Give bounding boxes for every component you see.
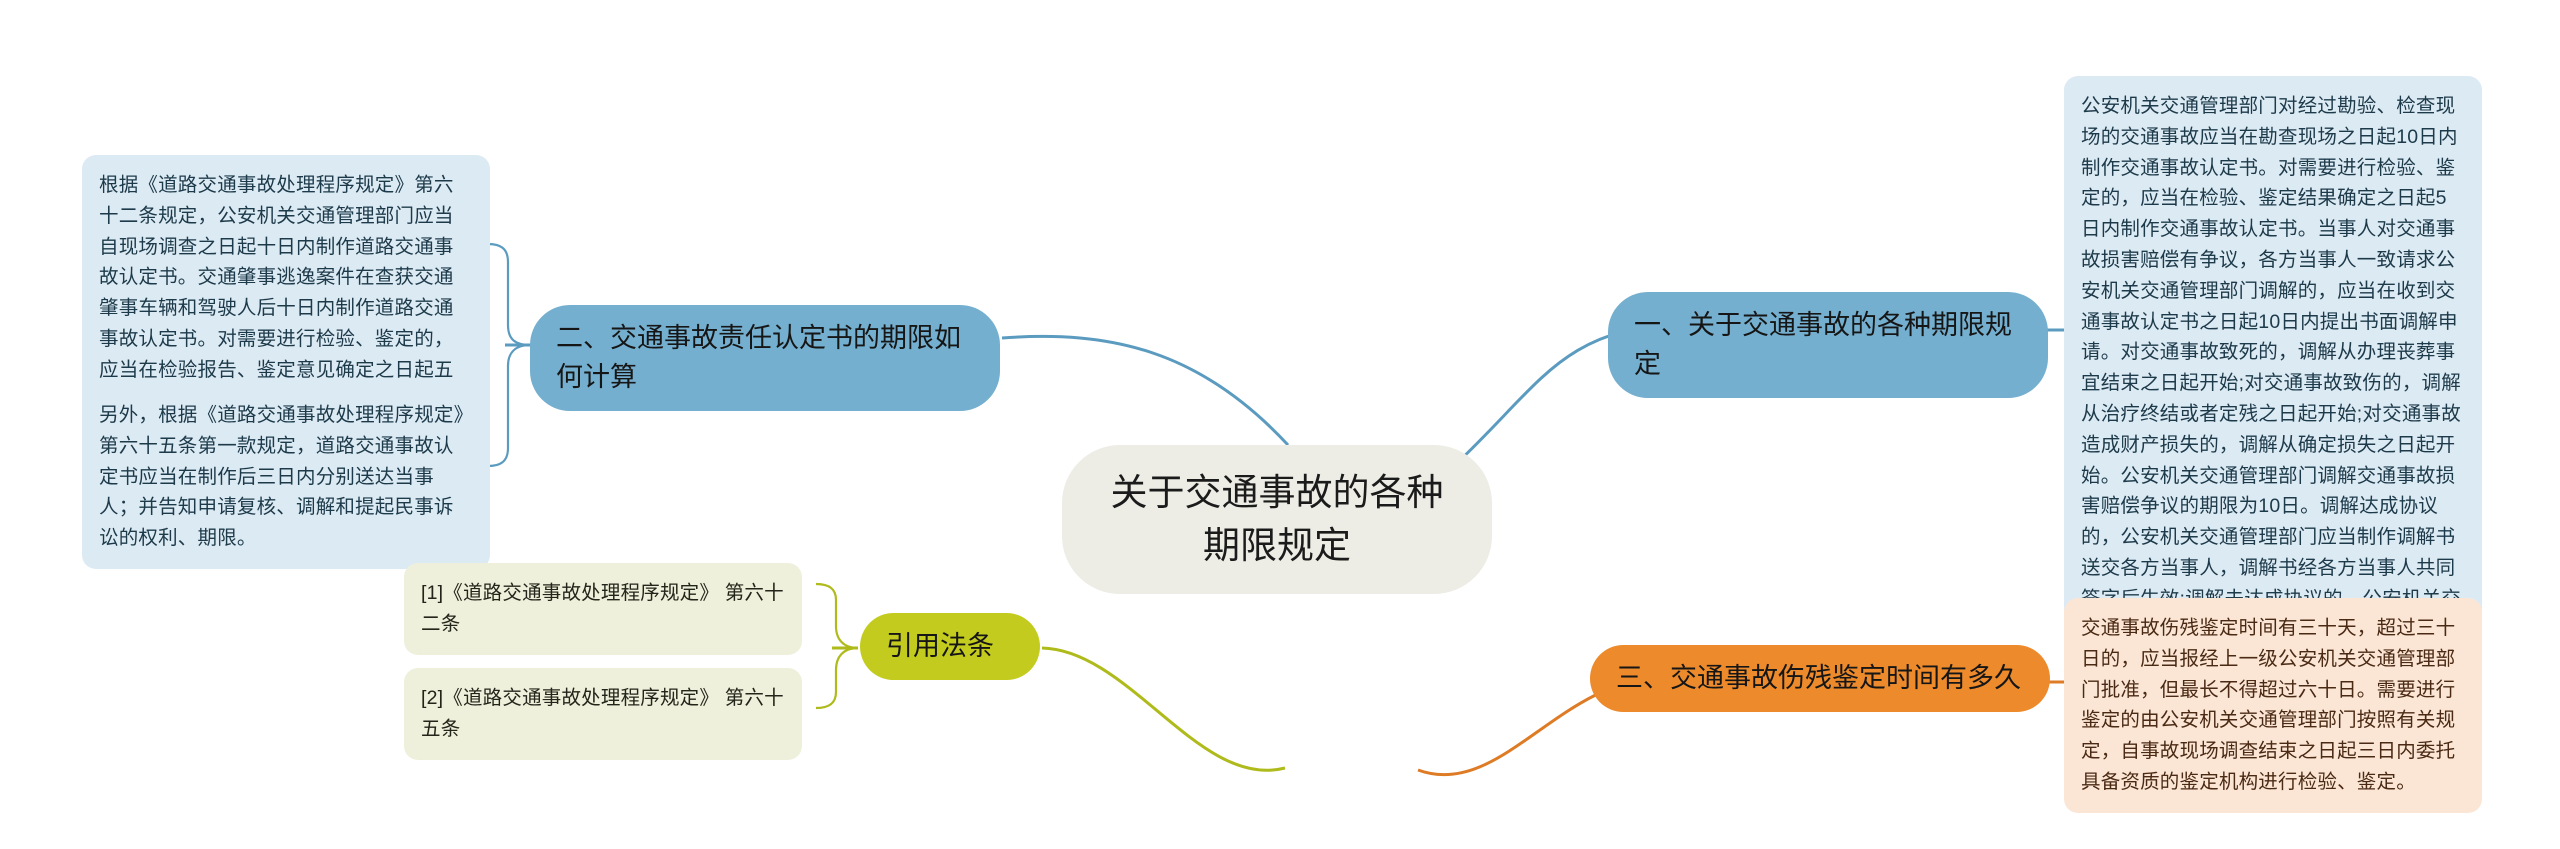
citation-card-2[interactable]: [2]《道路交通事故处理程序规定》 第六十五条 xyxy=(404,668,802,760)
center-topic-node[interactable]: 关于交通事故的各种期限规定 xyxy=(1062,445,1492,594)
branch-node-two-label: 二、交通事故责任认定书的期限如何计算 xyxy=(556,319,974,397)
connector-branch-two-to-cards xyxy=(488,244,530,345)
detail-card-branch-two-b-text: 另外，根据《道路交通事故处理程序规定》第六十五条第一款规定，道路交通事故认定书应… xyxy=(99,400,473,554)
branch-node-two[interactable]: 二、交通事故责任认定书的期限如何计算 xyxy=(530,305,1000,411)
center-topic-label: 关于交通事故的各种期限规定 xyxy=(1108,467,1446,572)
connector-citations-to-card-1 xyxy=(816,584,858,648)
citation-card-2-text: [2]《道路交通事故处理程序规定》 第六十五条 xyxy=(421,683,785,745)
detail-card-branch-two-b[interactable]: 另外，根据《道路交通事故处理程序规定》第六十五条第一款规定，道路交通事故认定书应… xyxy=(82,385,490,569)
detail-card-branch-three[interactable]: 交通事故伤残鉴定时间有三十天，超过三十日的，应当报经上一级公安机关交通管理部门批… xyxy=(2064,598,2482,813)
branch-node-one-label: 一、关于交通事故的各种期限规定 xyxy=(1634,306,2022,384)
branch-node-one[interactable]: 一、关于交通事故的各种期限规定 xyxy=(1608,292,2048,398)
branch-node-three[interactable]: 三、交通事故伤残鉴定时间有多久 xyxy=(1590,645,2050,712)
connector-center-to-branch-two xyxy=(1002,336,1288,445)
citation-card-1[interactable]: [1]《道路交通事故处理程序规定》 第六十二条 xyxy=(404,563,802,655)
citation-card-1-text: [1]《道路交通事故处理程序规定》 第六十二条 xyxy=(421,578,785,640)
connector-branch-two-to-card-b xyxy=(488,345,530,466)
detail-card-branch-three-text: 交通事故伤残鉴定时间有三十天，超过三十日的，应当报经上一级公安机关交通管理部门批… xyxy=(2081,613,2465,798)
connector-center-to-citations xyxy=(1042,648,1285,770)
detail-card-branch-one-text: 公安机关交通管理部门对经过勘验、检查现场的交通事故应当在勘查现场之日起10日内制… xyxy=(2081,91,2465,676)
branch-node-citations-label: 引用法条 xyxy=(886,627,1014,666)
detail-card-branch-two-a-text: 根据《道路交通事故处理程序规定》第六十二条规定，公安机关交通管理部门应当自现场调… xyxy=(99,170,473,416)
branch-node-citations[interactable]: 引用法条 xyxy=(860,613,1040,680)
connector-citations-to-card-2 xyxy=(816,648,858,708)
branch-node-three-label: 三、交通事故伤残鉴定时间有多久 xyxy=(1616,659,2024,698)
mindmap-canvas: 关于交通事故的各种期限规定 一、关于交通事故的各种期限规定 公安机关交通管理部门… xyxy=(0,0,2560,849)
